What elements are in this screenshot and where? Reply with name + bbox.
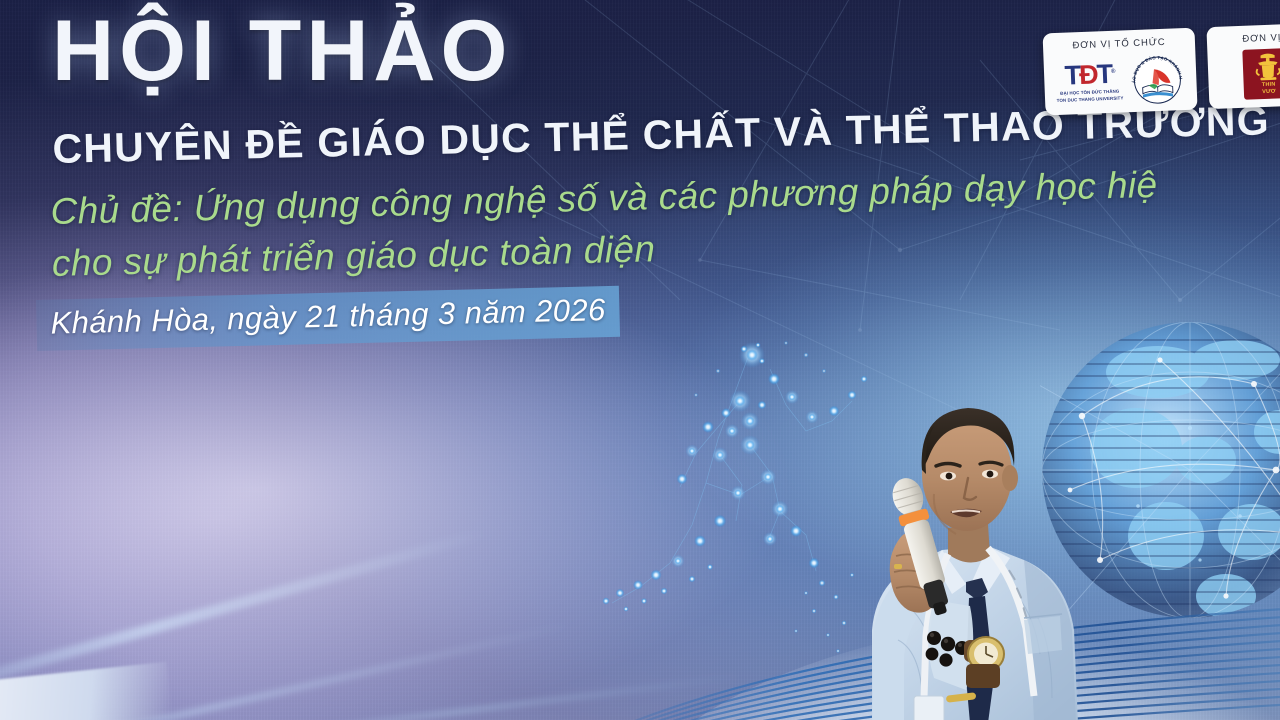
tdt-letter-t1: T — [1064, 60, 1080, 91]
speaker-figure — [838, 378, 1108, 720]
tdt-letter-t2: T — [1096, 58, 1112, 89]
banner-title: HỘI THẢO — [52, 6, 512, 96]
tdt-monogram: TÐT® — [1064, 60, 1114, 89]
khanh-hoa-education-logo: GIÁO DỤC & ĐÀO TẠO KHÁNH HÒA — [1130, 52, 1186, 106]
tdt-university-logo: TÐT® ĐẠI HỌC TÔN ĐỨC THẮNG TON DUC THANG… — [1055, 60, 1123, 103]
vietnam-emblem-label-2: VƯƠ — [1262, 89, 1276, 97]
registered-mark-icon: ® — [1111, 68, 1114, 74]
tdt-letter-d: Ð — [1079, 59, 1098, 90]
tdt-name-en: TON DUC THANG UNIVERSITY — [1057, 95, 1124, 103]
sponsor-card-logo-row: TÐT® ĐẠI HỌC TÔN ĐỨC THẮNG TON DUC THANG… — [1055, 52, 1186, 109]
conference-photo-stage: HỘI THẢO CHUYÊN ĐỀ GIÁO DỤC THỂ CHẤT VÀ … — [0, 0, 1280, 720]
banner-date-text: Khánh Hòa, ngày 21 tháng 3 năm 2026 — [50, 292, 606, 342]
sponsor-card-organizer: ĐƠN VỊ TỔ CHỨC TÐT® ĐẠI HỌC TÔN ĐỨC THẮN… — [1043, 28, 1198, 116]
sponsor-card-group: ĐƠN VỊ TỔ CHỨC TÐT® ĐẠI HỌC TÔN ĐỨC THẮN… — [1043, 23, 1280, 116]
sponsor-card-2-heading: ĐƠN VỊ T — [1242, 32, 1280, 45]
sponsor-card-partner: ĐƠN VỊ T THIN VƯƠ — [1206, 23, 1280, 110]
sponsor-card-heading: ĐƠN VỊ TỔ CHỨC — [1072, 37, 1165, 52]
sponsor-card-2-logo-row: THIN VƯƠ — [1242, 48, 1280, 100]
vietnam-emblem-logo: THIN VƯƠ — [1242, 48, 1280, 100]
